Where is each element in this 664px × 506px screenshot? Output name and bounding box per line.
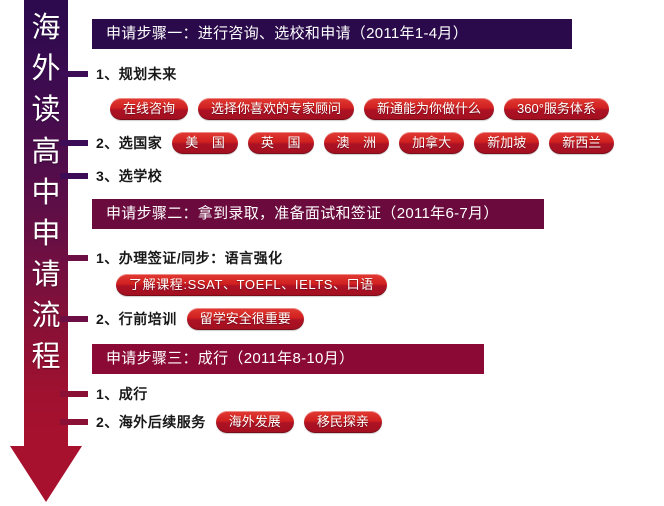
- step-item-label: 3、选学校: [96, 166, 162, 186]
- country-pill-canada[interactable]: 加拿大: [399, 132, 464, 154]
- tag-pill-courses[interactable]: 了解课程:SSAT、TOEFL、IELTS、口语: [116, 274, 387, 296]
- country-pill-uk[interactable]: 英 国: [248, 132, 314, 154]
- connector-line-icon: [60, 316, 88, 322]
- tag-pill-choose-advisor[interactable]: 选择你喜欢的专家顾问: [198, 98, 354, 120]
- step-item-1-3: 3、选学校: [60, 164, 162, 188]
- connector-line-icon: [60, 140, 88, 146]
- tag-pill-immigration-visit[interactable]: 移民探亲: [304, 411, 382, 433]
- step-item-label: 1、规划未来: [96, 64, 177, 84]
- connector-line-icon: [60, 391, 88, 397]
- step-item-label: 2、行前培训: [96, 309, 177, 329]
- step-item-3-1: 1、成行: [60, 382, 148, 406]
- tag-pill-what-we-do[interactable]: 新通能为你做什么: [364, 98, 494, 120]
- step-item-2-1: 1、办理签证/同步：语言强化: [60, 246, 283, 270]
- step-item-label: 2、选国家: [96, 133, 162, 153]
- tag-pill-study-safety[interactable]: 留学安全很重要: [187, 308, 304, 330]
- section-header-step-1: 申请步骤一：进行咨询、选校和申请（2011年1-4月）: [92, 19, 572, 49]
- step-item-label: 1、办理签证/同步：语言强化: [96, 248, 283, 268]
- connector-line-icon: [60, 71, 88, 77]
- step-item-1-1: 1、规划未来: [60, 62, 177, 86]
- step-item-1-2: 2、选国家 美 国 英 国 澳 洲 加拿大 新加坡 新西兰: [60, 131, 614, 155]
- country-pill-usa[interactable]: 美 国: [172, 132, 238, 154]
- connector-line-icon: [60, 255, 88, 261]
- step-item-label: 2、海外后续服务: [96, 412, 206, 432]
- tag-pill-online-consult[interactable]: 在线咨询: [110, 98, 188, 120]
- country-pill-australia[interactable]: 澳 洲: [324, 132, 390, 154]
- flowchart-content: 申请步骤一：进行咨询、选校和申请（2011年1-4月） 1、规划未来 在线咨询 …: [60, 0, 664, 506]
- step-item-label: 1、成行: [96, 384, 148, 404]
- connector-line-icon: [60, 419, 88, 425]
- step-item-3-2: 2、海外后续服务 海外发展 移民探亲: [60, 410, 382, 434]
- section-header-step-2: 申请步骤二：拿到录取，准备面试和签证（2011年6-7月）: [92, 199, 544, 229]
- tag-list-step-2: 了解课程:SSAT、TOEFL、IELTS、口语: [116, 274, 387, 296]
- connector-line-icon: [60, 173, 88, 179]
- tag-pill-overseas-development[interactable]: 海外发展: [216, 411, 294, 433]
- country-pill-singapore[interactable]: 新加坡: [474, 132, 539, 154]
- tag-list-step-1: 在线咨询 选择你喜欢的专家顾问 新通能为你做什么 360°服务体系: [110, 98, 609, 120]
- section-header-step-3: 申请步骤三：成行（2011年8-10月）: [92, 344, 484, 374]
- tag-pill-360-service[interactable]: 360°服务体系: [504, 98, 609, 120]
- step-item-2-2: 2、行前培训 留学安全很重要: [60, 307, 304, 331]
- country-pill-new-zealand[interactable]: 新西兰: [549, 132, 614, 154]
